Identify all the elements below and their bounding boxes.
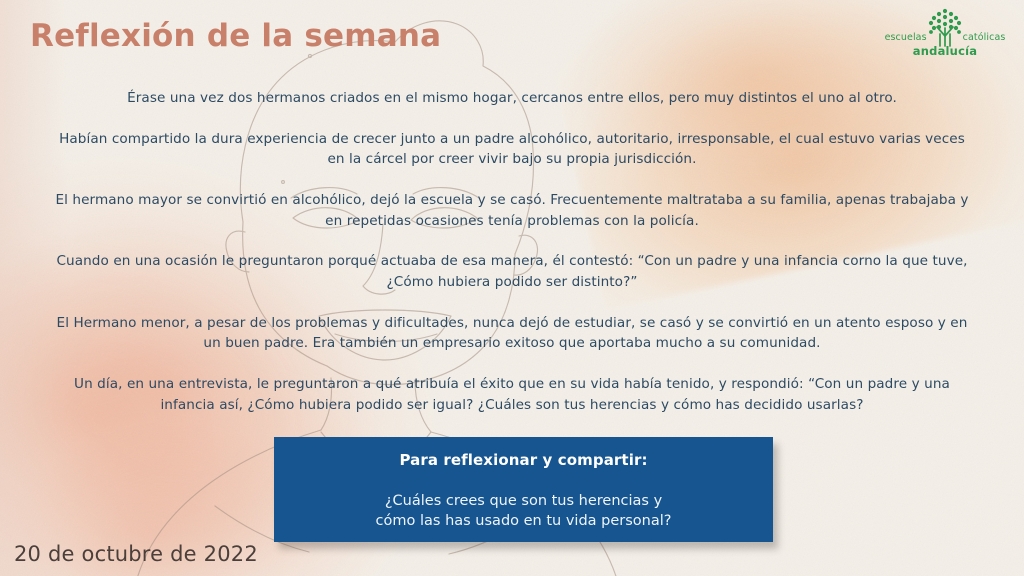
story-paragraph: Un día, en una entrevista, le preguntaro… xyxy=(50,374,974,415)
story-paragraph: El hermano mayor se convirtió en alcohól… xyxy=(50,190,974,231)
reflection-question-line-1: ¿Cuáles crees que son tus herencias y xyxy=(376,491,672,511)
brand-logo: escuelas católicas andalucía xyxy=(884,8,1006,58)
slide-date: 20 de octubre de 2022 xyxy=(14,542,258,566)
presentation-slide: Reflexión de la semana escuelas xyxy=(0,0,1024,576)
reflection-callout-box: Para reflexionar y compartir: ¿Cuáles cr… xyxy=(274,437,773,542)
logo-word-escuelas: escuelas xyxy=(885,32,927,43)
logo-word-catolicas: católicas xyxy=(963,32,1006,43)
story-paragraph: El Hermano menor, a pesar de los problem… xyxy=(50,313,974,354)
logo-word-andalucia: andalucía xyxy=(884,44,1006,58)
reflection-heading: Para reflexionar y compartir: xyxy=(399,451,647,469)
reflection-question-line-2: cómo las has usado en tu vida personal? xyxy=(376,511,672,531)
story-paragraph: Érase una vez dos hermanos criados en el… xyxy=(50,88,974,109)
page-title: Reflexión de la semana xyxy=(30,18,441,54)
story-paragraph: Cuando en una ocasión le preguntaron por… xyxy=(50,251,974,292)
story-paragraph: Habían compartido la dura experiencia de… xyxy=(50,129,974,170)
story-text-block: Érase una vez dos hermanos criados en el… xyxy=(50,88,974,415)
reflection-question: ¿Cuáles crees que son tus herencias y có… xyxy=(376,491,672,531)
